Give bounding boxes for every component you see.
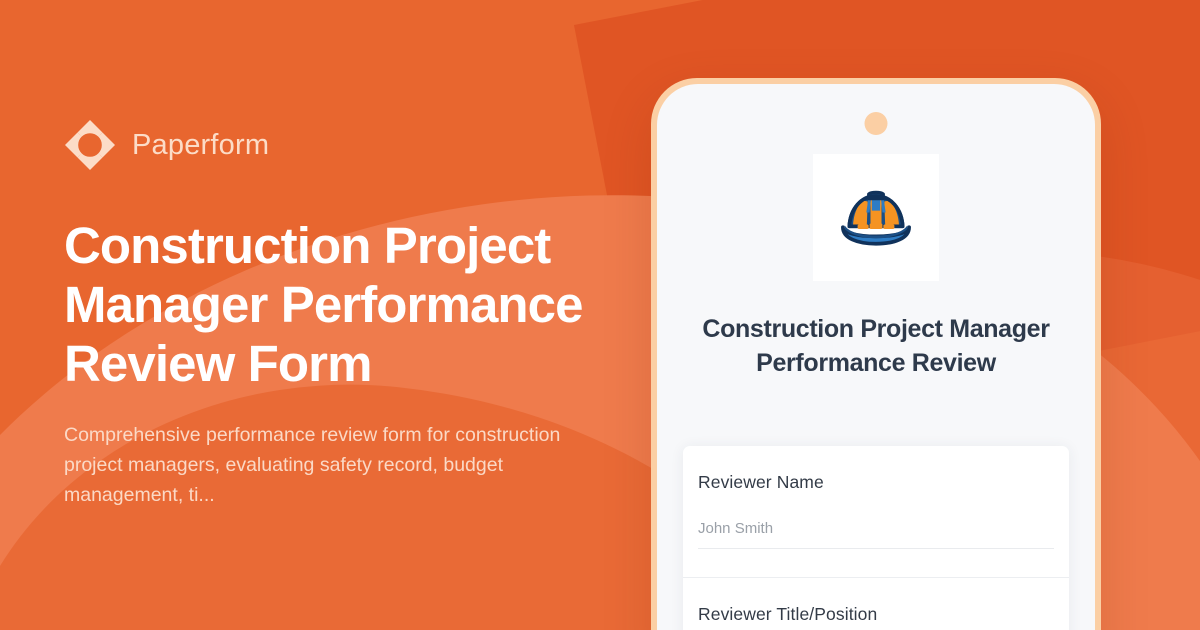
brand-lockup: Paperform [64, 119, 664, 171]
form-card: Reviewer Name John Smith Reviewer Title/… [683, 446, 1069, 630]
reviewer-name-input[interactable]: John Smith [698, 520, 1054, 549]
brand-name: Paperform [132, 131, 269, 160]
paperform-logo-icon [64, 119, 116, 171]
camera-dot-icon [865, 112, 888, 135]
hero-content: Paperform Construction Project Manager P… [64, 0, 664, 630]
page-description: Comprehensive performance review form fo… [64, 420, 564, 511]
field-label: Reviewer Name [698, 472, 1054, 493]
phone-mockup: Construction Project Manager Performance… [651, 78, 1101, 630]
form-logo-tile [813, 154, 939, 281]
field-label: Reviewer Title/Position [698, 604, 1054, 625]
form-field-reviewer-name: Reviewer Name John Smith [683, 446, 1069, 549]
page-title: Construction Project Manager Performance… [64, 217, 644, 394]
form-field-reviewer-title: Reviewer Title/Position Operations Direc… [683, 577, 1069, 630]
phone-screen: Construction Project Manager Performance… [657, 84, 1095, 630]
form-title: Construction Project Manager Performance… [685, 312, 1067, 380]
hard-hat-icon [830, 172, 922, 264]
